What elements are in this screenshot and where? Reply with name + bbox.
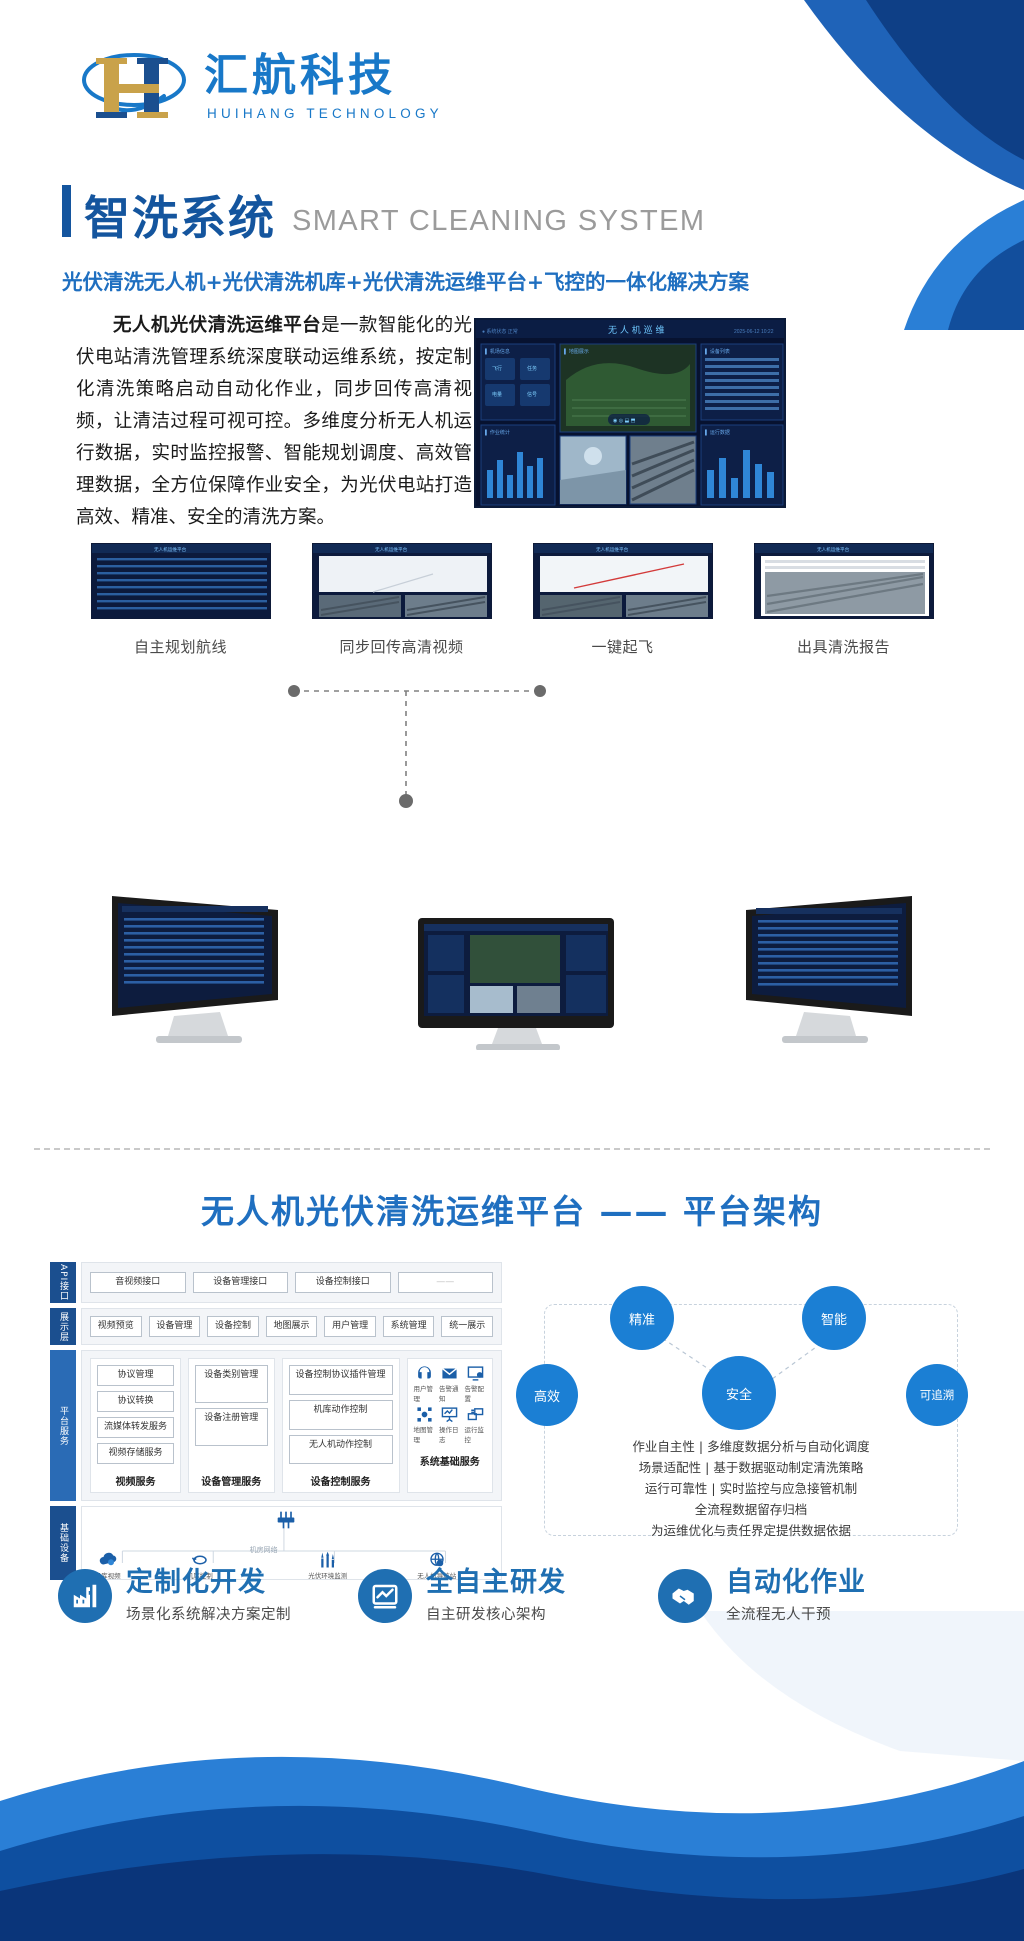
intro-body: 是一款智能化的光伏电站清洗管理系统深度联动运维系统，按定制化清洗策略启动自动化作… [76, 315, 472, 528]
svg-text:▌ 作业统计: ▌ 作业统计 [485, 429, 510, 436]
arch-heading-dash: —— [600, 1192, 670, 1231]
thumbnail-caption: 同步回传高清视频 [339, 636, 463, 657]
arch-layer-tag: 平台服务 [50, 1350, 76, 1501]
brand-name-en: HUIHANG TECHNOLOGY [204, 106, 443, 121]
value-circle-kezhuisu[interactable]: 可追溯 [906, 1364, 968, 1426]
value-circle-anquan[interactable]: 安全 [702, 1356, 776, 1430]
thumbnail-row: 无人机运维平台 自主规划航线 无人机运维平台 [70, 543, 954, 657]
arch-chip[interactable]: 地图展示 [266, 1316, 318, 1337]
arch-chip[interactable]: 设备控制接口 [295, 1272, 391, 1293]
arch-chip[interactable]: 系统管理 [383, 1316, 435, 1337]
route-planning-screen-icon: 无人机运维平台 [91, 543, 271, 619]
map-management-icon: 地图管理 [414, 1406, 435, 1444]
arch-group-title: 视频服务 [97, 1473, 174, 1488]
arch-chip[interactable]: 设备控制协议插件管理 [289, 1365, 393, 1395]
arch-layer-api: API接口 音视频接口 设备管理接口 设备控制接口 —— [50, 1262, 502, 1303]
intro-lead: 无人机光伏清洗运维平台 [113, 315, 321, 336]
arch-chip[interactable]: 设备管理接口 [193, 1272, 289, 1293]
connector-lines [280, 655, 700, 905]
feature-desc: 全流程无人干预 [726, 1603, 866, 1624]
svg-text:电量: 电量 [492, 391, 502, 398]
feature-desc: 自主研发核心架构 [426, 1603, 566, 1624]
intro-paragraph: 无人机光伏清洗运维平台是一款智能化的光伏电站清洗管理系统深度联动运维系统，按定制… [76, 310, 472, 534]
arch-group-title: 设备管理服务 [195, 1473, 267, 1488]
svg-text:● 系统状态 正常: ● 系统状态 正常 [482, 328, 518, 335]
arch-group-video: 协议管理 协议转换 流媒体转发服务 视频存储服务 视频服务 [90, 1358, 181, 1493]
section-divider [34, 1148, 990, 1150]
value-circle-label: 智能 [821, 1309, 847, 1328]
svg-text:◉ ◎ ⬓ ⬒: ◉ ◎ ⬓ ⬒ [613, 418, 636, 424]
svg-text:无人机运维平台: 无人机运维平台 [375, 546, 408, 553]
arch-group-system-base: 用户管理 告警通知 告警配置 地图管理 [407, 1358, 493, 1493]
title-accent-bar [62, 185, 71, 237]
svg-text:无人机运维平台: 无人机运维平台 [817, 546, 850, 553]
svg-text:任务: 任务 [527, 365, 537, 372]
factory-icon [58, 1569, 112, 1623]
value-line: 作业自主性 | 多维度数据分析与自动化调度 [516, 1436, 986, 1457]
arch-chip[interactable]: 视频预览 [90, 1316, 142, 1337]
arch-tag-label: 展示层 [58, 1312, 68, 1342]
thumbnail-caption: 出具清洗报告 [797, 636, 890, 657]
arch-tag-label: API接口 [58, 1264, 68, 1301]
operation-log-icon: 操作日志 [439, 1406, 461, 1444]
arch-chip[interactable]: 协议转换 [97, 1391, 174, 1412]
arch-chip[interactable]: 设备控制 [207, 1316, 259, 1337]
arch-chip[interactable]: 用户管理 [324, 1316, 376, 1337]
svg-text:飞行: 飞行 [492, 365, 502, 372]
svg-text:▌ 机场信息: ▌ 机场信息 [485, 348, 510, 355]
thumbnail-caption: 自主规划航线 [134, 636, 227, 657]
feature-item-automation: 自动化作业 全流程无人干预 [658, 1568, 958, 1624]
arch-group-title: 系统基础服务 [414, 1453, 486, 1468]
value-circle-label: 安全 [726, 1384, 752, 1403]
page-subtitle: 光伏清洗无人机+光伏清洗机库+光伏清洗运维平台+飞控的一体化解决方案 [62, 265, 749, 295]
value-circle-label: 可追溯 [920, 1387, 955, 1403]
poster-page: 汇航科技 HUIHANG TECHNOLOGY 智洗系统 SMART CLEAN… [0, 0, 1024, 1941]
arch-chip-blank[interactable]: —— [398, 1272, 494, 1293]
svg-text:无 人 机 巡 维: 无 人 机 巡 维 [608, 324, 664, 336]
arch-chip[interactable]: 设备类别管理 [195, 1365, 267, 1403]
thumbnail-caption: 一键起飞 [591, 636, 653, 657]
chart-icon [358, 1569, 412, 1623]
arch-chip[interactable]: 无人机动作控制 [289, 1435, 393, 1465]
feature-item-custom-dev: 定制化开发 场景化系统解决方案定制 [58, 1568, 358, 1624]
architecture-heading: 无人机光伏清洗运维平台 —— 平台架构 [0, 1185, 1024, 1233]
thumbnail-item[interactable]: 无人机运维平台 出具清洗报告 [733, 543, 954, 657]
svg-text:信号: 信号 [527, 391, 537, 398]
network-switch-icon [275, 1510, 297, 1535]
runtime-monitoring-icon: 运行监控 [465, 1406, 486, 1444]
one-key-takeoff-screen-icon: 无人机运维平台 [533, 543, 713, 619]
svg-text:▌ 设备列表: ▌ 设备列表 [705, 348, 730, 355]
svg-text:▌ 地图展示: ▌ 地图展示 [564, 348, 589, 355]
svg-text:▌ 运行数据: ▌ 运行数据 [705, 429, 730, 436]
arch-layer-tag: API接口 [50, 1262, 76, 1303]
monitor-center [418, 918, 614, 1050]
alarm-notification-icon: 告警通知 [439, 1365, 461, 1403]
value-circle-jingzhun[interactable]: 精准 [610, 1286, 674, 1350]
alarm-config-icon: 告警配置 [465, 1365, 486, 1403]
title-en: SMART CLEANING SYSTEM [292, 205, 705, 238]
infra-center-label: 机房网络 [250, 1545, 278, 1555]
arch-tag-label: 平台服务 [58, 1406, 68, 1446]
svc-label: 告警通知 [439, 1383, 461, 1403]
arch-heading-left: 无人机光伏清洗运维平台 [201, 1192, 586, 1231]
cleaning-report-screen-icon: 无人机运维平台 [754, 543, 934, 619]
arch-tag-label: 基础设备 [58, 1523, 68, 1563]
value-line: 为运维优化与责任界定提供数据依据 [516, 1520, 986, 1541]
value-line: 运行可靠性 | 实时监控与应急接管机制 [516, 1478, 986, 1499]
feature-desc: 场景化系统解决方案定制 [126, 1603, 291, 1624]
architecture-diagram: API接口 音视频接口 设备管理接口 设备控制接口 —— 展示层 视频预览 设备… [50, 1262, 502, 1585]
arch-layer-tag: 展示层 [50, 1308, 76, 1345]
thumbnail-item[interactable]: 无人机运维平台 一键起飞 [512, 543, 733, 657]
page-title: 智洗系统 SMART CLEANING SYSTEM [62, 185, 705, 241]
brand-name-cn: 汇航科技 [204, 53, 443, 99]
arch-heading-right: 平台架构 [683, 1192, 823, 1231]
value-line: 场景适配性 | 基于数据驱动制定清洗策略 [516, 1457, 986, 1478]
feature-title: 定制化开发 [126, 1568, 291, 1598]
value-circle-label: 高效 [534, 1386, 560, 1405]
arch-chip[interactable]: 流媒体转发服务 [97, 1417, 174, 1438]
monitor-row [70, 890, 954, 1050]
hero-dashboard-screenshot: 无 人 机 巡 维 ● 系统状态 正常 2025-06-12 10:22 ▌ 机… [474, 318, 786, 508]
svc-label: 操作日志 [439, 1424, 461, 1444]
svc-label: 运行监控 [465, 1424, 486, 1444]
title-cn: 智洗系统 [84, 195, 276, 241]
arch-layer-platform: 平台服务 协议管理 协议转换 流媒体转发服务 视频存储服务 视频服务 设备类别管… [50, 1350, 502, 1501]
arch-chip[interactable]: 设备管理 [149, 1316, 201, 1337]
svc-label: 地图管理 [414, 1424, 435, 1444]
monitor-right [746, 896, 912, 1043]
value-description-list: 作业自主性 | 多维度数据分析与自动化调度 场景适配性 | 基于数据驱动制定清洗… [516, 1436, 986, 1541]
svg-text:无人机运维平台: 无人机运维平台 [154, 546, 187, 553]
arch-chip[interactable]: 机库动作控制 [289, 1400, 393, 1430]
svg-text:无人机运维平台: 无人机运维平台 [596, 546, 629, 553]
huihang-h-logo-icon [78, 48, 190, 126]
value-line: 全流程数据留存归档 [516, 1499, 986, 1520]
handshake-icon [658, 1569, 712, 1623]
thumbnail-item[interactable]: 无人机运维平台 自主规划航线 [70, 543, 291, 657]
feature-item-self-rd: 全自主研发 自主研发核心架构 [358, 1568, 658, 1624]
arch-layer-presentation: 展示层 视频预览 设备管理 设备控制 地图展示 用户管理 系统管理 统一展示 [50, 1308, 502, 1345]
arch-chip[interactable]: 音视频接口 [90, 1272, 186, 1293]
value-circle-zhineng[interactable]: 智能 [802, 1286, 866, 1350]
arch-group-device-mgmt: 设备类别管理 设备注册管理 设备管理服务 [188, 1358, 274, 1493]
feature-title: 自动化作业 [726, 1568, 866, 1598]
arch-chip[interactable]: 统一展示 [441, 1316, 493, 1337]
svc-label: 告警配置 [465, 1383, 486, 1403]
arch-group-title: 设备控制服务 [289, 1473, 393, 1488]
svg-text:2025-06-12 10:22: 2025-06-12 10:22 [734, 329, 774, 335]
arch-chip[interactable]: 视频存储服务 [97, 1443, 174, 1464]
feature-row: 定制化开发 场景化系统解决方案定制 全自主研发 自主研发核心架构 [58, 1568, 966, 1624]
live-video-screen-icon: 无人机运维平台 [312, 543, 492, 619]
arch-chip[interactable]: 协议管理 [97, 1365, 174, 1386]
value-proposition-diagram: 高效 精准 安全 智能 可追溯 作业自主性 | 多维度数据分析与自动化调度 场景… [516, 1286, 986, 1554]
bottom-decoration [0, 1611, 1024, 1941]
arch-chip[interactable]: 设备注册管理 [195, 1408, 267, 1446]
arch-group-device-control: 设备控制协议插件管理 机库动作控制 无人机动作控制 设备控制服务 [282, 1358, 400, 1493]
monitor-left [112, 896, 278, 1043]
feature-title: 全自主研发 [426, 1568, 566, 1598]
user-management-icon: 用户管理 [414, 1365, 435, 1403]
value-circle-gaoxiao[interactable]: 高效 [516, 1364, 578, 1426]
value-circle-label: 精准 [629, 1309, 655, 1328]
svc-label: 用户管理 [414, 1383, 435, 1403]
brand-logo: 汇航科技 HUIHANG TECHNOLOGY [78, 48, 443, 126]
thumbnail-item[interactable]: 无人机运维平台 同步回传高清视频 [291, 543, 512, 657]
